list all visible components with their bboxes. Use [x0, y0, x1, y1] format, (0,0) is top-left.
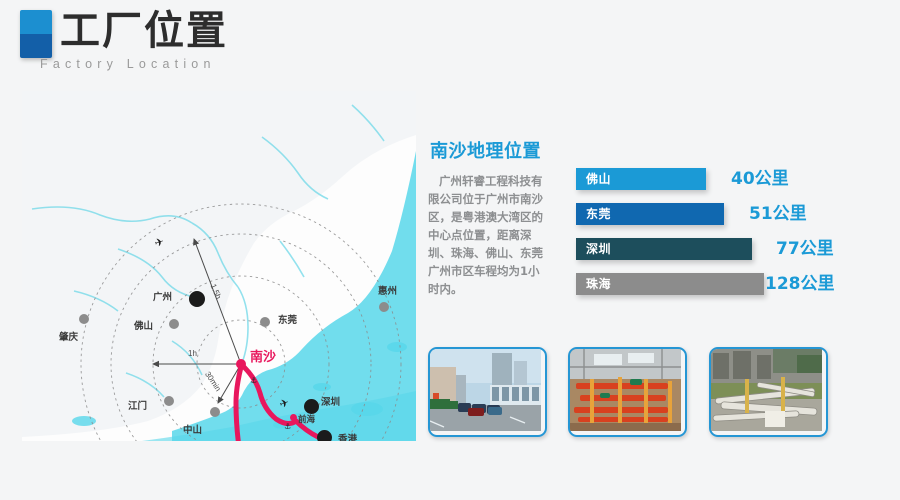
map-label-dongguan: 东莞 [278, 312, 297, 326]
map-label-hongkong: 香港 [338, 431, 357, 441]
table-row[interactable]: 珠海 128公里 [576, 273, 876, 301]
map-label-huizhou: 惠州 [378, 283, 397, 297]
city-dot-nansha [236, 359, 246, 369]
city-dot-huizhou [379, 302, 389, 312]
city-dot-guangzhou [189, 291, 205, 307]
panel-body-text: 广州轩睿工程科技有限公司位于广州市南沙区，是粤港澳大湾区的中心点位置，距离深圳、… [428, 172, 544, 298]
city-dot-hongkong [317, 430, 332, 441]
city-dot-qianhai [290, 414, 297, 421]
map-label-guangzhou: 广州 [153, 289, 172, 303]
page-title-cn: 工厂位置 [60, 6, 228, 56]
map-label-foshan: 佛山 [134, 318, 153, 332]
bar-label-zhuhai: 珠海 [586, 276, 611, 292]
bar-value-foshan: 40公里 [731, 167, 789, 191]
bar-label-dongguan: 东莞 [586, 206, 611, 222]
table-row[interactable]: 东莞 51公里 [576, 203, 876, 231]
distance-bar-chart: 佛山 40公里 东莞 51公里 深圳 77公里 珠海 128公里 [576, 168, 876, 308]
svg-text:⚓: ⚓ [250, 376, 257, 385]
bar-label-shenzhen: 深圳 [586, 241, 611, 257]
page-header: 工厂位置 Factory Location [0, 0, 900, 86]
city-dot-foshan [169, 319, 179, 329]
photo-steel-pipes-yard[interactable] [709, 347, 828, 437]
logo-mark [20, 10, 52, 58]
city-dot-zhongshan [210, 407, 220, 417]
logo-top-block [20, 10, 52, 34]
ring-label-1h: 1h [188, 349, 197, 358]
panel-title: 南沙地理位置 [430, 137, 541, 163]
table-row[interactable]: 佛山 40公里 [576, 168, 876, 196]
photo-factory-interior-racks[interactable] [568, 347, 687, 437]
bar-value-shenzhen: 77公里 [776, 237, 834, 261]
map-label-jiangmen: 江门 [128, 398, 147, 412]
city-dot-jiangmen [164, 396, 174, 406]
map-label-zhongshan: 中山 [183, 422, 202, 436]
city-dot-shenzhen [304, 399, 319, 414]
bar-value-zhuhai: 128公里 [765, 272, 835, 296]
svg-text:⚓: ⚓ [284, 422, 291, 431]
map-card[interactable]: ⚓ ⚓ ⚓ ✈ ✈ ✈ ✈ ✈ 肇庆 广州 佛山 东莞 惠州 江门 中山 深圳 … [22, 91, 416, 441]
map-label-zhaoqing: 肇庆 [59, 329, 78, 343]
map-label-shenzhen: 深圳 [321, 394, 340, 408]
photo-factory-exterior[interactable] [428, 347, 547, 437]
city-dot-dongguan [260, 317, 270, 327]
bar-value-dongguan: 51公里 [749, 202, 807, 226]
map-label-nansha: 南沙 [250, 346, 276, 365]
logo-bottom-block [20, 34, 52, 58]
page-title-en: Factory Location [40, 57, 216, 71]
bar-label-foshan: 佛山 [586, 171, 611, 187]
city-dot-zhaoqing [79, 314, 89, 324]
table-row[interactable]: 深圳 77公里 [576, 238, 876, 266]
map-label-qianhai: 前海 [298, 413, 315, 425]
